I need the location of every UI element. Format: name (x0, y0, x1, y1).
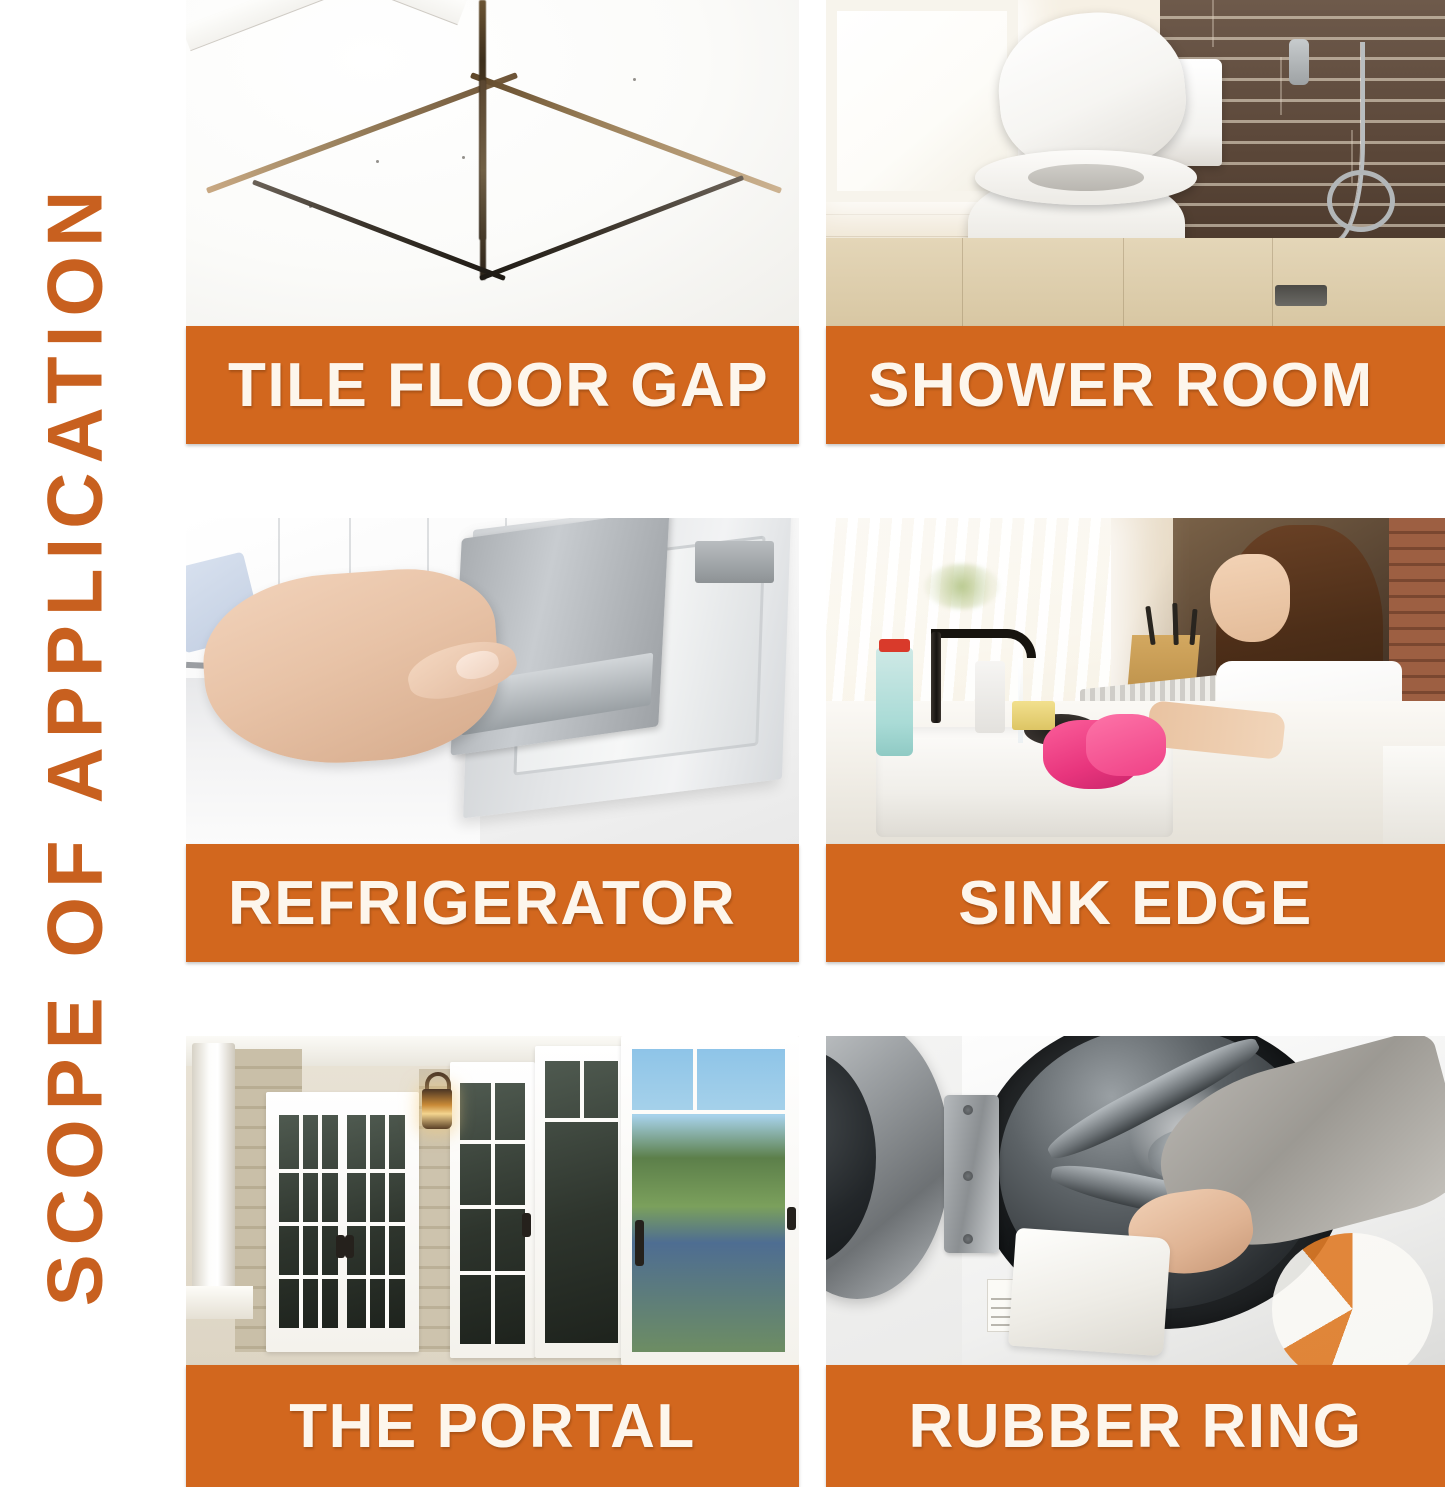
label-text: SHOWER ROOM (868, 350, 1374, 421)
door-handle (522, 1213, 531, 1237)
sponge (1012, 701, 1055, 730)
bathroom-floor (826, 238, 1445, 326)
sidelight-glass-2 (545, 1061, 619, 1342)
photo-the-portal (186, 1036, 799, 1365)
floor-drain (1275, 285, 1327, 306)
door-handle (635, 1220, 644, 1266)
mold-speck (376, 160, 379, 163)
cell-the-portal[interactable]: THE PORTAL (186, 1036, 799, 1487)
grid-row-1: TILE FLOOR GAP (186, 0, 1445, 444)
glass-door-reflection (632, 1049, 785, 1352)
photo-tile-floor-gap (186, 0, 799, 326)
photo-rubber-ring (826, 1036, 1445, 1365)
toilet-seat (975, 150, 1198, 205)
sidelight-panel-1 (450, 1062, 536, 1358)
grid-row-3: THE PORTAL (186, 1036, 1445, 1487)
cleaning-cloth (1008, 1228, 1171, 1357)
door-glass-left (279, 1115, 337, 1328)
sidelight-glass-1 (460, 1083, 525, 1344)
application-grid: TILE FLOOR GAP (186, 0, 1445, 1487)
spray-bottle-cap (879, 639, 910, 652)
headline-text: SCOPE OF APPLICATION (30, 181, 121, 1306)
label-text: RUBBER RING (909, 1391, 1363, 1462)
label-text: THE PORTAL (289, 1391, 696, 1462)
pink-glove-right (1086, 714, 1166, 776)
knife (1172, 603, 1178, 646)
mold-speck (462, 156, 465, 159)
window-plant (925, 564, 999, 610)
stool (1383, 746, 1445, 844)
door-handle (345, 1235, 354, 1258)
glass-door-panel (621, 1036, 799, 1365)
cell-tile-floor-gap[interactable]: TILE FLOOR GAP (186, 0, 799, 444)
grout-line-lower-left (252, 180, 506, 281)
grout-line-vertical-secondary (480, 80, 486, 280)
label-text: TILE FLOOR GAP (228, 350, 769, 421)
french-door-pair (266, 1092, 419, 1352)
label-text: REFRIGERATOR (228, 868, 736, 939)
spray-bottle (876, 648, 913, 756)
grout-line-upper-left (206, 72, 518, 194)
grid-row-2: REFRIGERATOR (186, 518, 1445, 962)
cell-shower-room[interactable]: SHOWER ROOM (826, 0, 1445, 444)
column-base (186, 1286, 253, 1319)
photo-sink-edge (826, 518, 1445, 844)
door-handle (336, 1235, 345, 1258)
girl-face (1210, 554, 1290, 642)
label-bar-tile-floor-gap: TILE FLOOR GAP (186, 326, 799, 444)
label-bar-sink-edge: SINK EDGE (826, 844, 1445, 962)
cell-refrigerator[interactable]: REFRIGERATOR (186, 518, 799, 962)
mold-speck (633, 78, 636, 81)
fridge-hinge (695, 541, 775, 583)
faucet-spout (931, 629, 1036, 658)
faucet-body (931, 632, 941, 723)
infographic-root: SCOPE OF APPLICATION (0, 0, 1445, 1487)
cell-rubber-ring[interactable]: RUBBER RING (826, 1036, 1445, 1487)
label-bar-the-portal: THE PORTAL (186, 1365, 799, 1487)
sprayer-hose-coil (1327, 170, 1395, 232)
door-hinge (944, 1095, 1000, 1253)
scope-of-application-headline: SCOPE OF APPLICATION (0, 0, 150, 1487)
photo-shower-room (826, 0, 1445, 326)
soap-dispenser (975, 661, 1006, 733)
door-handle (787, 1207, 796, 1230)
door-glass-right (347, 1115, 405, 1328)
label-text: SINK EDGE (958, 868, 1313, 939)
grout-line-lower-right (479, 175, 744, 281)
window-curtain (826, 518, 1111, 727)
label-bar-refrigerator: REFRIGERATOR (186, 844, 799, 962)
cell-sink-edge[interactable]: SINK EDGE (826, 518, 1445, 962)
porch-lantern (422, 1089, 452, 1129)
label-bar-rubber-ring: RUBBER RING (826, 1365, 1445, 1487)
label-bar-shower-room: SHOWER ROOM (826, 326, 1445, 444)
sidelight-panel-2 (535, 1046, 627, 1359)
photo-refrigerator (186, 518, 799, 844)
mold-speck (309, 205, 312, 208)
grout-line-upper-right (470, 72, 782, 194)
porch-column (192, 1043, 235, 1313)
